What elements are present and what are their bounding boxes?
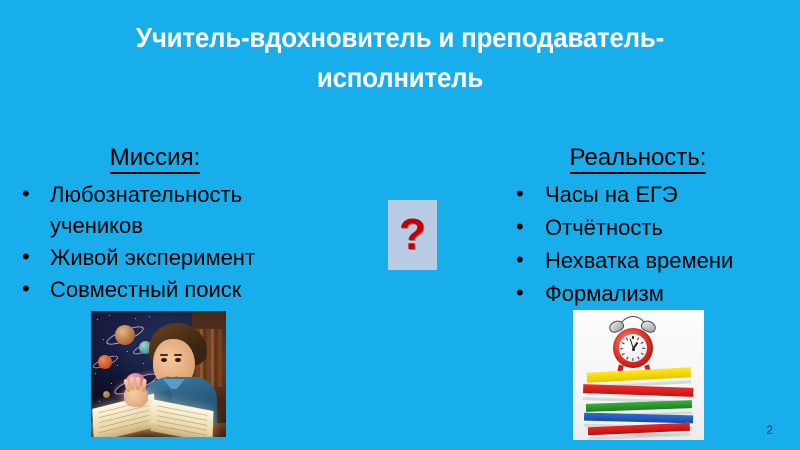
- list-item: Совместный поиск: [8, 274, 338, 305]
- boy-eye: [161, 358, 167, 362]
- clock-center-pin: [632, 348, 635, 351]
- mission-bullet-list: Любознательность учеников Живой эксперим…: [8, 179, 338, 305]
- question-mark-icon: ?: [399, 213, 426, 257]
- list-item: Нехватка времени: [504, 245, 800, 276]
- mission-heading-label: Миссия:: [110, 144, 200, 174]
- list-item: Формализм: [504, 278, 800, 309]
- planet-icon: [98, 355, 112, 369]
- planet-icon: [115, 325, 135, 345]
- question-mark-card: ?: [388, 200, 437, 270]
- slide-number: 2: [766, 423, 773, 437]
- planet-icon: [103, 391, 110, 398]
- clock-tick: [620, 347, 623, 348]
- boy-finger: [136, 377, 140, 390]
- reality-heading-label: Реальность:: [570, 144, 707, 174]
- stack-shadow: [589, 431, 689, 437]
- reality-column: Реальность: Часы на ЕГЭ Отчётность Нехва…: [504, 143, 800, 311]
- reality-heading: Реальность:: [504, 143, 800, 173]
- reality-bullet-list: Часы на ЕГЭ Отчётность Нехватка времени …: [504, 179, 800, 309]
- boy-eye: [175, 358, 181, 362]
- mission-column: Миссия: Любознательность учеников Живой …: [8, 143, 338, 306]
- list-item: Живой эксперимент: [8, 242, 338, 273]
- list-item: Часы на ЕГЭ: [504, 179, 800, 210]
- clock-tick: [632, 336, 633, 339]
- boy-reading-glowing-book-with-planets-image: [91, 311, 226, 437]
- text-lines: [157, 405, 208, 437]
- mission-heading: Миссия:: [8, 143, 338, 173]
- boy-eyebrow: [174, 354, 182, 356]
- slide: Учитель-вдохновитель и преподаватель- ис…: [0, 0, 800, 450]
- page-title: Учитель-вдохновитель и преподаватель- ис…: [80, 18, 719, 98]
- alarm-clock-on-stack-of-books-image: [573, 310, 704, 440]
- clock-tick: [642, 347, 645, 348]
- list-item: Любознательность учеников: [8, 179, 338, 241]
- boy-eyebrow: [160, 354, 168, 356]
- list-item: Отчётность: [504, 212, 800, 243]
